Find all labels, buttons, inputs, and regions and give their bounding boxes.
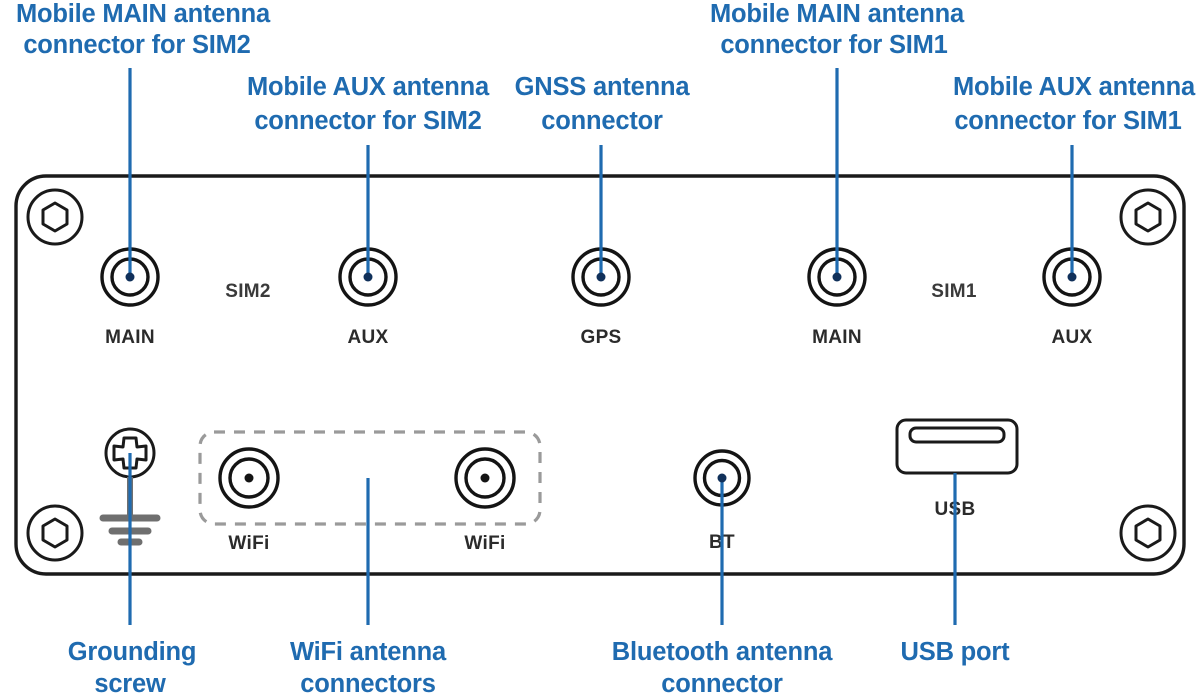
corner-screw-bottom-left — [28, 506, 82, 560]
panel-marking-sim1: SIM1 — [931, 281, 977, 302]
callout-gnss-antenna: GNSS antenna connector — [515, 73, 691, 135]
callout-mobile-aux-sim1-line2: connector for SIM1 — [954, 107, 1181, 135]
callout-mobile-main-sim1-line1: Mobile MAIN antenna — [710, 0, 965, 28]
panel-marking-sim2: SIM2 — [225, 281, 271, 302]
leader-dot-mobile-main-sim2 — [126, 273, 135, 282]
panel-label-aux-sim2: AUX — [347, 327, 388, 348]
callout-grounding-screw-line2: screw — [94, 670, 166, 695]
router-panel-diagram: MAIN AUX GPS MAIN AUX SIM2 SIM1 — [0, 0, 1200, 695]
leader-dot-gnss — [597, 273, 606, 282]
callout-wifi-line2: connectors — [300, 670, 435, 695]
callout-mobile-main-sim1: Mobile MAIN antenna connector for SIM1 — [710, 0, 965, 59]
panel-label-gps: GPS — [580, 327, 621, 348]
leader-dot-mobile-main-sim1 — [833, 273, 842, 282]
callout-mobile-main-sim2: Mobile MAIN antenna connector for SIM2 — [16, 0, 271, 59]
panel-label-main-sim2: MAIN — [105, 327, 155, 348]
callout-grounding-screw: Grounding screw — [68, 638, 197, 695]
leader-dot-mobile-aux-sim2 — [364, 273, 373, 282]
callout-wifi-antenna-connectors: WiFi antenna connectors — [290, 638, 447, 695]
callout-wifi-line1: WiFi antenna — [290, 638, 447, 666]
diagram-canvas: MAIN AUX GPS MAIN AUX SIM2 SIM1 — [0, 0, 1200, 695]
connector-wifi-right[interactable] — [456, 449, 514, 507]
callout-bluetooth-antenna: Bluetooth antenna connector — [612, 638, 833, 695]
callout-mobile-aux-sim2-line1: Mobile AUX antenna — [247, 73, 490, 101]
callout-grounding-screw-line1: Grounding — [68, 638, 197, 666]
usb-port-icon[interactable] — [897, 420, 1017, 473]
leader-dot-bluetooth — [718, 474, 727, 483]
callout-mobile-aux-sim1-line1: Mobile AUX antenna — [953, 73, 1196, 101]
panel-label-wifi-right: WiFi — [464, 533, 505, 554]
callout-mobile-aux-sim2: Mobile AUX antenna connector for SIM2 — [247, 73, 490, 135]
corner-screw-top-right — [1121, 190, 1175, 244]
callout-bluetooth-line2: connector — [661, 670, 783, 695]
connector-wifi-left[interactable] — [220, 449, 278, 507]
callout-mobile-main-sim1-line2: connector for SIM1 — [720, 31, 947, 59]
corner-screw-bottom-right — [1121, 506, 1175, 560]
leader-dot-mobile-aux-sim1 — [1068, 273, 1077, 282]
callout-gnss-line1: GNSS antenna — [515, 73, 691, 101]
callout-bluetooth-line1: Bluetooth antenna — [612, 638, 833, 666]
panel-label-main-sim1: MAIN — [812, 327, 862, 348]
callout-mobile-main-sim2-line1: Mobile MAIN antenna — [16, 0, 271, 28]
callout-mobile-aux-sim2-line2: connector for SIM2 — [254, 107, 481, 135]
callout-gnss-line2: connector — [541, 107, 663, 135]
panel-label-aux-sim1: AUX — [1051, 327, 1092, 348]
corner-screw-top-left — [28, 190, 82, 244]
callout-mobile-main-sim2-line2: connector for SIM2 — [23, 31, 250, 59]
callout-usb-line1: USB port — [901, 638, 1011, 666]
callout-usb-port: USB port — [901, 638, 1011, 666]
panel-label-wifi-left: WiFi — [228, 533, 269, 554]
callout-mobile-aux-sim1: Mobile AUX antenna connector for SIM1 — [953, 73, 1196, 135]
